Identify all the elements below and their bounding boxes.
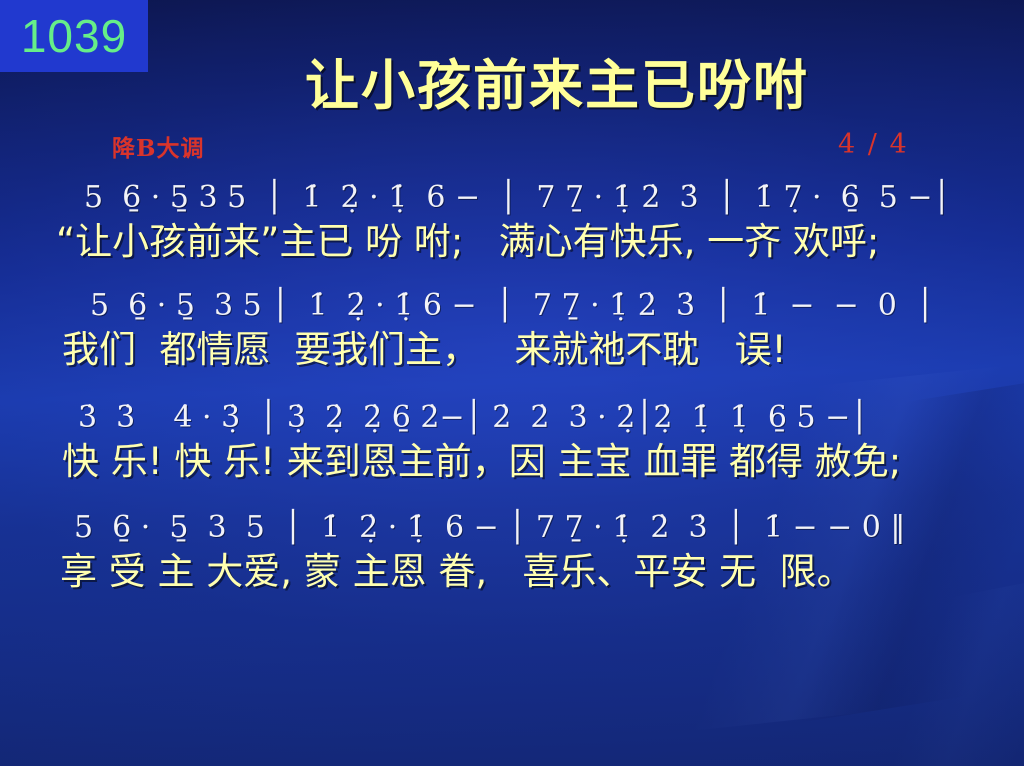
time-signature: 4 / 4 — [838, 130, 909, 160]
lyrics-line: 快 乐! 快 乐! 来到恩主前，因 主宝 血罪 都得 赦免; — [0, 438, 1024, 486]
notation-line: 5 6̱ · 5̱ 3 5 │ 1̇ 2̣̇ · 1̣̇ 6 − │ 7 7̱ … — [0, 286, 1024, 326]
stave-row: 5 6̱ · 5̱ 3 5 │ 1̇ 2̣̇ · 1̣̇ 6 − │ 7 7̱ … — [0, 508, 1024, 596]
notation-line: 5 6̱ · 5̱ 3 5 │ 1̇ 2̣̇ · 1̣̇ 6 − │ 7 7̱ … — [0, 178, 1024, 218]
hymn-slide: 1039 让小孩前来主已吩咐 降B大调 4 / 4 5 6̱ · 5̱ 3 5 … — [0, 0, 1024, 766]
notation-line: 5 6̱ · 5̱ 3 5 │ 1̇ 2̣̇ · 1̣̇ 6 − │ 7 7̱ … — [0, 508, 1024, 548]
lyrics-line: “让小孩前来”主已 吩 咐; 满心有快乐, 一齐 欢呼; — [0, 218, 1024, 266]
notation-line: 3̇ 3̇ 4̇ · 3̣̇ │ 3̣̇ 2̣̇ 2̣̇ 6̱ 2̇−│ 2̇ … — [0, 398, 1024, 438]
page-title: 让小孩前来主已吩咐 — [0, 56, 1024, 116]
stave-row: 5 6̱ · 5̱ 3 5 │ 1̇ 2̣̇ · 1̣̇ 6 − │ 7 7̱ … — [0, 178, 1024, 266]
hymn-number: 1039 — [21, 13, 127, 59]
stave-row: 3̇ 3̇ 4̇ · 3̣̇ │ 3̣̇ 2̣̇ 2̣̇ 6̱ 2̇−│ 2̇ … — [0, 398, 1024, 486]
lyrics-line: 我们 都情愿 要我们主， 来就祂不耽 误! — [0, 326, 1024, 374]
lyrics-line: 享 受 主 大爱, 蒙 主恩 眷, 喜乐、平安 无 限。 — [0, 548, 1024, 596]
music-body: 5 6̱ · 5̱ 3 5 │ 1̇ 2̣̇ · 1̣̇ 6 − │ 7 7̱ … — [0, 178, 1024, 596]
key-signature: 降B大调 — [112, 136, 204, 162]
stave-row: 5 6̱ · 5̱ 3 5 │ 1̇ 2̣̇ · 1̣̇ 6 − │ 7 7̱ … — [0, 286, 1024, 374]
